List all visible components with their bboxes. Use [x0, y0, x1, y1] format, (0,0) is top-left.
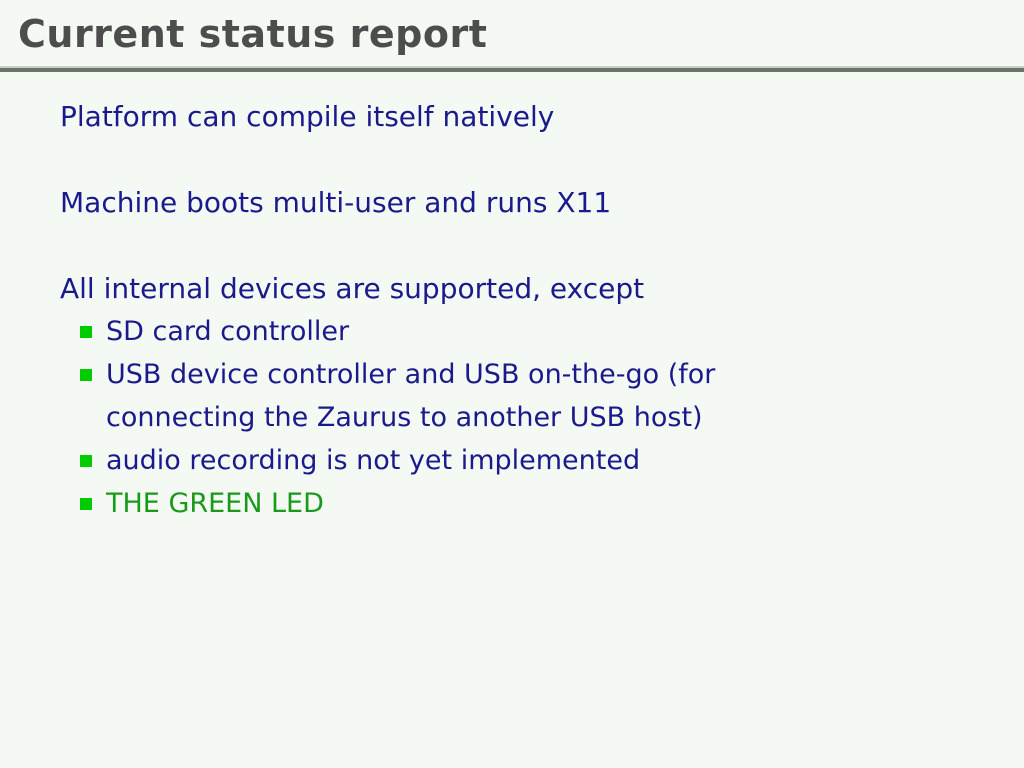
- list-item: USB device controller and USB on-the-go …: [80, 353, 866, 439]
- list-item: SD card controller: [80, 310, 866, 353]
- body-paragraph-2: Machine boots multi-user and runs X11: [60, 182, 1024, 224]
- title-divider: [0, 66, 1024, 72]
- green-square-bullet-icon: [80, 498, 92, 510]
- body-paragraph-3: All internal devices are supported, exce…: [60, 268, 1024, 310]
- slide-body: Platform can compile itself natively Mac…: [0, 96, 1024, 525]
- paragraph-spacer: [0, 224, 1024, 268]
- list-item-label: SD card controller: [106, 316, 349, 347]
- green-square-bullet-icon: [80, 455, 92, 467]
- page-title: Current status report: [18, 12, 487, 56]
- title-divider-line: [0, 68, 1024, 72]
- body-paragraph-1: Platform can compile itself natively: [60, 96, 1024, 138]
- list-item-label: THE GREEN LED: [106, 488, 324, 519]
- list-item: audio recording is not yet implemented: [80, 439, 866, 482]
- list-item-label: audio recording is not yet implemented: [106, 445, 640, 476]
- exception-bullet-list: SD card controller USB device controller…: [0, 310, 1024, 525]
- paragraph-spacer: [0, 138, 1024, 182]
- list-item: THE GREEN LED: [80, 482, 866, 525]
- green-square-bullet-icon: [80, 326, 92, 338]
- slide-header: Current status report: [0, 0, 1024, 72]
- green-square-bullet-icon: [80, 369, 92, 381]
- list-item-label: USB device controller and USB on-the-go …: [106, 359, 715, 433]
